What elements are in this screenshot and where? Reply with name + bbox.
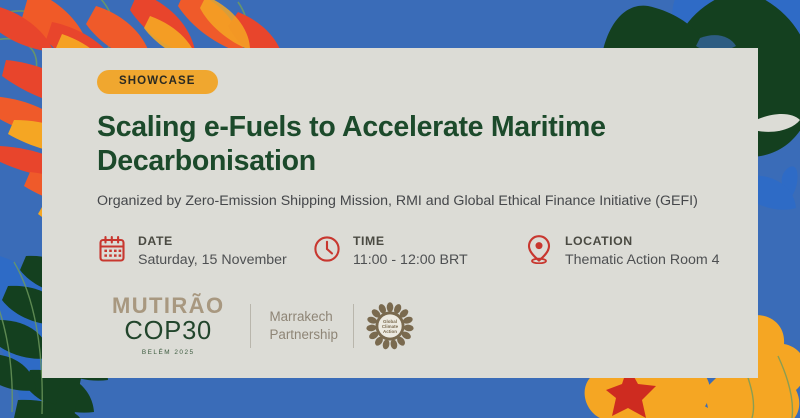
showcase-badge: SHOWCASE [97, 70, 218, 94]
cop-place-text: BELÉM 2025 [112, 350, 224, 356]
location-label: LOCATION [565, 234, 720, 249]
time-value: 11:00 - 12:00 BRT [353, 251, 468, 270]
card-content: SHOWCASE Scaling e-Fuels to Accelerate M… [97, 70, 730, 270]
logo-row: MUTIRÃO COP30 BELÉM 2025 Marrakech Partn… [112, 295, 414, 356]
calendar-icon [97, 233, 127, 265]
partnership-line-2: Partnership [269, 326, 337, 344]
meta-text-date: DATE Saturday, 15 November [138, 233, 287, 270]
meta-text-location: LOCATION Thematic Action Room 4 [565, 233, 720, 270]
location-value: Thematic Action Room 4 [565, 251, 720, 270]
date-value: Saturday, 15 November [138, 251, 287, 270]
logo-divider-right [353, 304, 354, 348]
meta-item-date: DATE Saturday, 15 November [97, 233, 312, 270]
event-poster: SHOWCASE Scaling e-Fuels to Accelerate M… [0, 0, 800, 418]
map-pin-icon [524, 233, 554, 265]
cop-mutirao-text: MUTIRÃO [112, 295, 224, 317]
marrakech-partnership-logo: Marrakech Partnership [251, 308, 352, 344]
seal-line-3: Action [383, 328, 397, 333]
partnership-line-1: Marrakech [269, 308, 337, 326]
meta-text-time: TIME 11:00 - 12:00 BRT [353, 233, 468, 270]
time-label: TIME [353, 234, 468, 249]
event-meta-row: DATE Saturday, 15 November TIME [97, 233, 730, 270]
clock-icon [312, 233, 342, 265]
event-card: SHOWCASE Scaling e-Fuels to Accelerate M… [42, 48, 758, 378]
event-organizer: Organized by Zero-Emission Shipping Miss… [97, 192, 730, 210]
event-title: Scaling e-Fuels to Accelerate Maritime D… [97, 110, 697, 178]
meta-item-location: LOCATION Thematic Action Room 4 [524, 233, 720, 270]
global-climate-action-seal: Global Climate Action [366, 302, 414, 350]
meta-item-time: TIME 11:00 - 12:00 BRT [312, 233, 524, 270]
cop30-logo: MUTIRÃO COP30 BELÉM 2025 [112, 295, 250, 356]
cop-number-text: COP30 [112, 318, 224, 346]
date-label: DATE [138, 234, 287, 249]
